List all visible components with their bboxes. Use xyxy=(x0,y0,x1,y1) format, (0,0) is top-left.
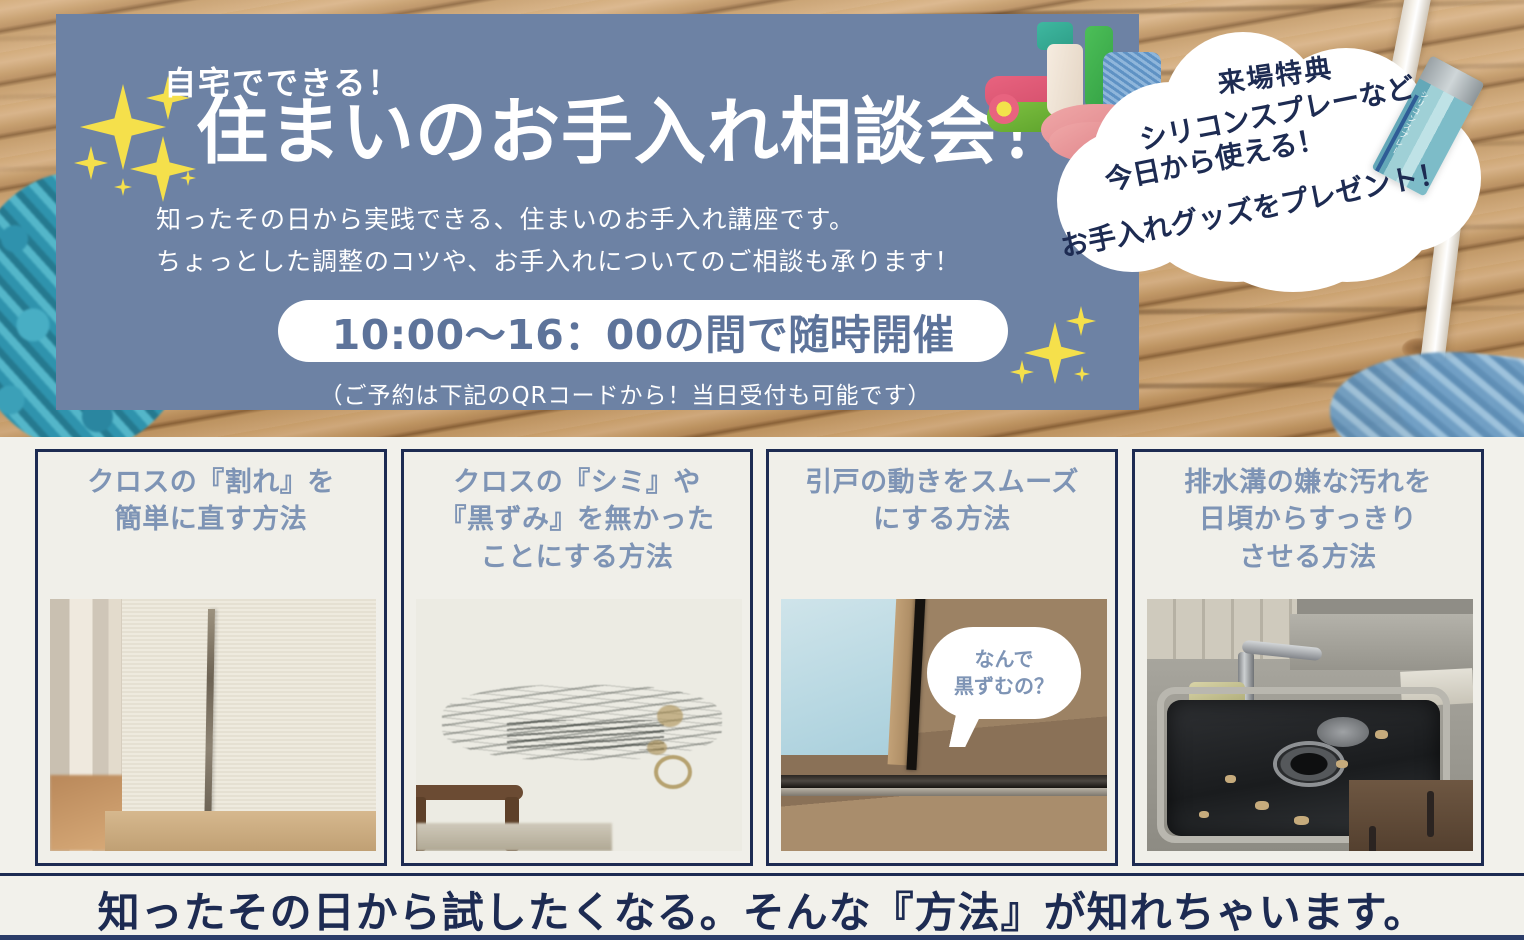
dirty-sink-photo xyxy=(1147,599,1473,851)
header-subtitle-line1: 知ったその日から実践できる、住まいのお手入れ講座です。 xyxy=(156,200,855,236)
topic-card-sliding-door[interactable]: 引戸の動きをスムーズ にする方法 なんで 黒ずむの？ xyxy=(766,449,1118,866)
wall-smear xyxy=(507,720,663,750)
food-debris xyxy=(1199,811,1209,818)
cracked-wall-photo xyxy=(50,599,376,851)
reservation-note: （ご予約は下記のQRコードから！当日受付も可能です） xyxy=(56,376,1195,410)
towel-roll-end xyxy=(989,94,1019,124)
door-glass-panel xyxy=(781,599,898,755)
stain-ring xyxy=(654,755,692,789)
poster-root: 自宅でできる！ 住まいのお手入れ相談会！ 知ったその日から実践できる、住まいのお… xyxy=(0,0,1524,940)
topic-card-wall-stain[interactable]: クロスの『シミ』や 『黒ずみ』を無かった ことにする方法 xyxy=(401,449,753,866)
banner-text: 知ったその日から試したくなる。そんな『方法』が知れちゃいます。 xyxy=(0,879,1524,940)
banner-divider xyxy=(0,873,1524,876)
sliding-door-rail-photo: なんで 黒ずむの？ xyxy=(781,599,1107,851)
stained-wall-photo xyxy=(416,599,742,851)
cabinet-front xyxy=(1349,780,1473,851)
wall-stain xyxy=(657,705,683,727)
microfiber-duster-secondary xyxy=(1330,352,1524,437)
card-title: クロスの『割れ』を 簡単に直す方法 xyxy=(38,464,384,539)
food-debris xyxy=(1255,801,1269,810)
bubble-line-2: 黒ずむの？ xyxy=(954,673,1054,700)
door-rail-highlight xyxy=(781,788,1107,796)
card-title: 排水溝の嫌な汚れを 日頃からすっきり させる方法 xyxy=(1135,464,1481,576)
baseboard xyxy=(105,811,376,851)
door-rail xyxy=(781,775,1107,788)
benefit-cloud-text: 来場特典 シリコンスプレーなど 今日から使える！ お手入れグッズをプレゼント！ xyxy=(1045,20,1497,288)
bottom-banner: 知ったその日から試したくなる。そんな『方法』が知れちゃいます。 xyxy=(0,873,1524,940)
topic-card-row: クロスの『割れ』を 簡単に直す方法 クロスの『シミ』や 『黒ずみ』を無かった こ… xyxy=(0,443,1524,873)
topic-card-wall-crack[interactable]: クロスの『割れ』を 簡単に直す方法 xyxy=(35,449,387,866)
cabinet-handle xyxy=(1427,791,1434,837)
bubble-line-1: なんで xyxy=(975,646,1034,673)
speech-bubble: なんで 黒ずむの？ xyxy=(927,627,1081,719)
food-debris xyxy=(1294,816,1309,825)
time-badge: 10:00〜16：00の間で随時開催 xyxy=(278,300,1008,362)
topic-card-drain[interactable]: 排水溝の嫌な汚れを 日頃からすっきり させる方法 xyxy=(1132,449,1484,866)
table-edge xyxy=(416,823,612,851)
card-title: クロスの『シミ』や 『黒ずみ』を無かった ことにする方法 xyxy=(404,464,750,576)
counter-surface xyxy=(1290,614,1473,669)
cabinet-handle xyxy=(1369,826,1376,851)
header-subtitle-line2: ちょっとした調整のコツや、お手入れについてのご相談も承ります！ xyxy=(156,242,961,278)
banner-bottom-rule xyxy=(0,935,1524,940)
time-badge-label: 10:00〜16：00の間で随時開催 xyxy=(332,301,955,361)
page-title: 住まいのお手入れ相談会！ xyxy=(196,96,1072,168)
food-debris xyxy=(1375,730,1388,739)
card-title: 引戸の動きをスムーズ にする方法 xyxy=(769,464,1115,539)
food-debris xyxy=(1336,760,1348,768)
header-panel: 自宅でできる！ 住まいのお手入れ相談会！ 知ったその日から実践できる、住まいのお… xyxy=(56,14,1139,410)
drain-cover xyxy=(1317,717,1369,747)
